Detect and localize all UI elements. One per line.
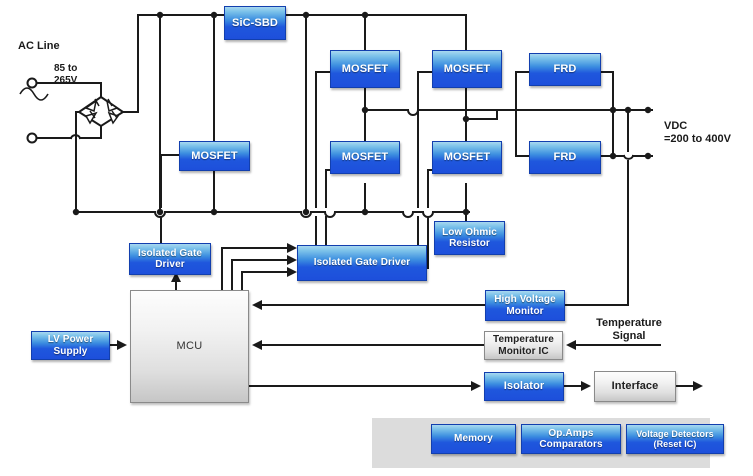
wire-hop-phase-a bbox=[408, 110, 418, 115]
isolated-gate-driver-left-line1: Isolated Gate bbox=[138, 248, 202, 259]
block-isolated-gate-driver-right[interactable]: Isolated Gate Driver bbox=[297, 245, 427, 281]
block-frd-top[interactable]: FRD bbox=[529, 53, 601, 86]
ac-voltage-label: 85 to 265V bbox=[54, 63, 77, 87]
ac-voltage-line2: 265V bbox=[54, 75, 77, 87]
wire-mcu-bus-3 bbox=[242, 272, 294, 290]
block-mosfet-low-side-2[interactable]: MOSFET bbox=[432, 141, 502, 174]
wire-frd-top-left-down bbox=[516, 72, 529, 156]
arrowhead-isolator-to-interface bbox=[581, 381, 591, 391]
wire-bridge-plus-to-rail bbox=[123, 15, 138, 112]
block-opamps-comparators[interactable]: Op.Amps Comparators bbox=[521, 424, 621, 454]
arrowhead-temp-signal bbox=[566, 340, 576, 350]
block-mosfet-high-side-1[interactable]: MOSFET bbox=[330, 50, 400, 88]
block-lv-power-supply[interactable]: LV Power Supply bbox=[31, 331, 110, 360]
wire-h1-gate bbox=[316, 72, 330, 207]
temperature-monitor-ic-line2: Monitor IC bbox=[493, 346, 554, 357]
block-low-ohmic-resistor[interactable]: Low Ohmic Resistor bbox=[434, 221, 505, 255]
low-ohmic-resistor-line1: Low Ohmic bbox=[442, 227, 497, 238]
lv-power-supply-line2: Supply bbox=[48, 346, 94, 357]
wire-h2-phase-b-up bbox=[466, 110, 497, 119]
vdc-label: VDC =200 to 400V bbox=[664, 120, 731, 147]
block-mcu[interactable]: MCU bbox=[130, 290, 249, 403]
block-high-voltage-monitor[interactable]: High Voltage Monitor bbox=[485, 290, 565, 321]
block-temperature-monitor-ic[interactable]: Temperature Monitor IC bbox=[484, 331, 563, 360]
block-sic-sbd[interactable]: SiC-SBD bbox=[224, 6, 286, 40]
high-voltage-monitor-line2: Monitor bbox=[494, 306, 556, 317]
isolated-gate-driver-left-line2: Driver bbox=[138, 259, 202, 270]
wire-l1-gate bbox=[326, 170, 330, 207]
block-isolated-gate-driver-left[interactable]: Isolated Gate Driver bbox=[129, 243, 211, 275]
temperature-signal-line2: Signal bbox=[590, 330, 668, 343]
temperature-signal-line1: Temperature bbox=[590, 317, 668, 330]
block-diagram-canvas: AC Line 85 to 265V VDC =200 to 400V Temp… bbox=[0, 0, 753, 476]
high-voltage-monitor-line1: High Voltage bbox=[494, 294, 556, 305]
wire-ac-bottom-lead-right bbox=[80, 126, 101, 138]
block-isolator[interactable]: Isolator bbox=[484, 372, 564, 401]
arrowhead-mcu-to-isolator bbox=[471, 381, 481, 391]
arrowhead-lv-to-mcu bbox=[117, 340, 127, 350]
opamps-line2: Comparators bbox=[539, 439, 602, 450]
opamps-line1: Op.Amps bbox=[539, 428, 602, 439]
arrowhead-bus-3 bbox=[287, 267, 297, 277]
arrowhead-bus-2 bbox=[287, 255, 297, 265]
bridge-diodes bbox=[86, 99, 118, 123]
block-frd-bottom[interactable]: FRD bbox=[529, 141, 601, 174]
wire-frd-top-right-down bbox=[601, 72, 613, 156]
temperature-signal-label: Temperature Signal bbox=[590, 317, 668, 344]
wire-l2-gate bbox=[428, 170, 432, 207]
voltage-detectors-line2: (Reset IC) bbox=[636, 439, 714, 449]
block-interface[interactable]: Interface bbox=[594, 371, 676, 402]
sine-wave-icon bbox=[20, 88, 48, 100]
arrowhead-hv-to-mcu bbox=[252, 300, 262, 310]
ac-voltage-line1: 85 to bbox=[54, 63, 77, 75]
block-voltage-detectors[interactable]: Voltage Detectors (Reset IC) bbox=[626, 424, 724, 454]
temperature-monitor-ic-line1: Temperature bbox=[493, 334, 554, 345]
block-memory[interactable]: Memory bbox=[431, 424, 516, 454]
low-ohmic-resistor-line2: Resistor bbox=[442, 238, 497, 249]
lv-power-supply-line1: LV Power bbox=[48, 334, 94, 345]
block-mosfet-high-side-2[interactable]: MOSFET bbox=[432, 50, 502, 88]
wire-bridge-minus-down bbox=[76, 112, 79, 212]
block-mosfet-pfc[interactable]: MOSFET bbox=[179, 141, 250, 171]
block-mosfet-low-side-1[interactable]: MOSFET bbox=[330, 141, 400, 174]
wire-hop-vdc-minus bbox=[624, 156, 633, 159]
wire-h2-gate bbox=[418, 72, 432, 207]
vdc-label-line2: =200 to 400V bbox=[664, 133, 731, 146]
arrowhead-bus-1 bbox=[287, 243, 297, 253]
vdc-label-line1: VDC bbox=[664, 120, 731, 133]
bridge-rectifier-diamond bbox=[79, 97, 123, 126]
voltage-detectors-line1: Voltage Detectors bbox=[636, 429, 714, 439]
arrowhead-temp-to-mcu bbox=[252, 340, 262, 350]
arrowhead-interface-out bbox=[693, 381, 703, 391]
ac-line-label: AC Line bbox=[18, 40, 60, 53]
wire-mosfet-pfc-gate bbox=[161, 155, 179, 207]
wire-hop-bottom-4 bbox=[403, 212, 413, 217]
